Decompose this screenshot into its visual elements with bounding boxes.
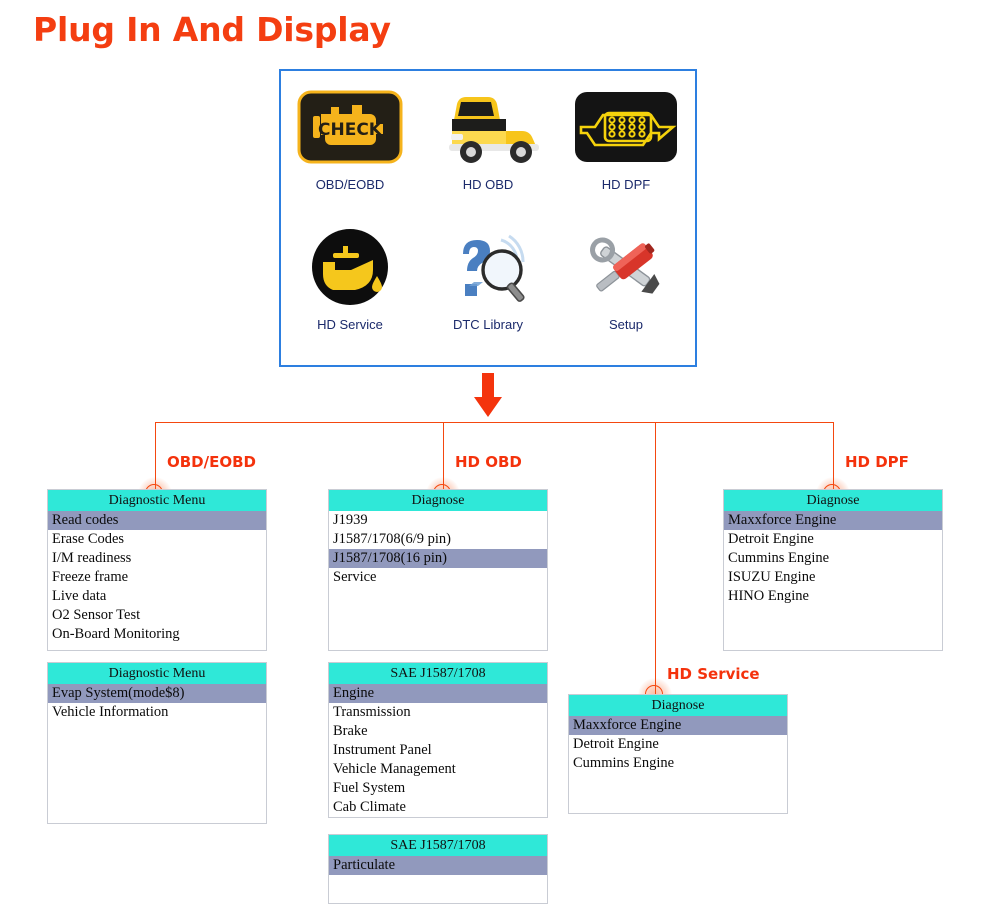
device-icon-grid: CHECK OBD/EOBD HD OBD [281,77,695,357]
panel-header: SAE J1587/1708 [329,663,547,684]
panel-header: Diagnose [569,695,787,716]
connector-horizontal-trunk [155,422,834,423]
branch-label-hd-obd: HD OBD [455,453,522,471]
menu-tile-label: DTC Library [453,317,523,332]
list-item[interactable]: J1587/1708(6/9 pin) [329,530,547,549]
list-item[interactable]: J1939 [329,511,547,530]
menu-tile-hd-dpf[interactable]: HD DPF [557,77,695,217]
check-engine-icon: CHECK [291,83,409,171]
branch-label-hd-dpf: HD DPF [845,453,909,471]
list-item[interactable]: Service [329,568,547,587]
menu-tile-label: HD Service [317,317,383,332]
panel-list[interactable]: Read codes Erase Codes I/M readiness Fre… [48,511,266,644]
list-item[interactable]: Evap System(mode$8) [48,684,266,703]
menu-tile-label: Setup [609,317,643,332]
menu-tile-label: OBD/EOBD [316,177,385,192]
list-item[interactable]: Freeze frame [48,568,266,587]
list-item[interactable]: Detroit Engine [724,530,942,549]
menu-tile-label: HD OBD [463,177,514,192]
connector-branch-hd-service [655,422,656,695]
panel-list[interactable]: J1939 J1587/1708(6/9 pin) J1587/1708(16 … [329,511,547,587]
panel-list[interactable]: Maxxforce Engine Detroit Engine Cummins … [569,716,787,773]
panel-header: Diagnose [329,490,547,511]
panel-hd-service-diagnose[interactable]: Diagnose Maxxforce Engine Detroit Engine… [568,694,788,814]
panel-header: SAE J1587/1708 [329,835,547,856]
panel-list[interactable]: Engine Transmission Brake Instrument Pan… [329,684,547,817]
panel-list[interactable]: Maxxforce Engine Detroit Engine Cummins … [724,511,942,606]
panel-list[interactable]: Particulate [329,856,547,875]
menu-tile-label: HD DPF [602,177,650,192]
panel-header: Diagnose [724,490,942,511]
menu-tile-hd-obd[interactable]: HD OBD [419,77,557,217]
list-item[interactable]: Detroit Engine [569,735,787,754]
panel-sae-j1587-systems[interactable]: SAE J1587/1708 Engine Transmission Brake… [328,662,548,818]
panel-diagnostic-menu-2[interactable]: Diagnostic Menu Evap System(mode$8) Vehi… [47,662,267,824]
list-item[interactable]: Read codes [48,511,266,530]
list-item[interactable]: Cummins Engine [569,754,787,773]
oil-can-icon [291,223,409,311]
tools-wrench-screwdriver-icon [567,223,685,311]
branch-label-hd-service: HD Service [667,665,760,683]
menu-tile-hd-service[interactable]: HD Service [281,217,419,357]
page-title: Plug In And Display [33,10,391,49]
panel-header: Diagnostic Menu [48,663,266,684]
list-item[interactable]: Fuel System [329,779,547,798]
list-item[interactable]: Engine [329,684,547,703]
menu-tile-obd-eobd[interactable]: CHECK OBD/EOBD [281,77,419,217]
panel-hd-obd-diagnose[interactable]: Diagnose J1939 J1587/1708(6/9 pin) J1587… [328,489,548,651]
list-item[interactable]: I/M readiness [48,549,266,568]
list-item[interactable]: Cab Climate [329,798,547,817]
list-item[interactable]: Transmission [329,703,547,722]
list-item[interactable]: Erase Codes [48,530,266,549]
list-item[interactable]: HINO Engine [724,587,942,606]
panel-hd-dpf-diagnose[interactable]: Diagnose Maxxforce Engine Detroit Engine… [723,489,943,651]
list-item[interactable]: Vehicle Management [329,760,547,779]
list-item[interactable]: Cummins Engine [724,549,942,568]
svg-text:CHECK: CHECK [318,120,383,140]
list-item[interactable]: Particulate [329,856,547,875]
list-item[interactable]: Instrument Panel [329,741,547,760]
panel-header: Diagnostic Menu [48,490,266,511]
list-item[interactable]: Vehicle Information [48,703,266,722]
list-item[interactable]: Live data [48,587,266,606]
list-item[interactable]: J1587/1708(16 pin) [329,549,547,568]
panel-diagnostic-menu-1[interactable]: Diagnostic Menu Read codes Erase Codes I… [47,489,267,651]
list-item[interactable]: Maxxforce Engine [569,716,787,735]
list-item[interactable]: O2 Sensor Test [48,606,266,625]
device-screen: CHECK OBD/EOBD HD OBD [279,69,697,367]
branch-label-obd-eobd: OBD/EOBD [167,453,256,471]
truck-icon [429,83,547,171]
question-magnifier-icon [429,223,547,311]
menu-tile-dtc-library[interactable]: DTC Library [419,217,557,357]
list-item[interactable]: Maxxforce Engine [724,511,942,530]
list-item[interactable]: ISUZU Engine [724,568,942,587]
list-item[interactable]: Brake [329,722,547,741]
down-arrow-icon [472,373,504,417]
menu-tile-setup[interactable]: Setup [557,217,695,357]
list-item[interactable]: On-Board Monitoring [48,625,266,644]
panel-sae-j1587-particulate[interactable]: SAE J1587/1708 Particulate [328,834,548,904]
dpf-filter-icon [567,83,685,171]
panel-list[interactable]: Evap System(mode$8) Vehicle Information [48,684,266,722]
